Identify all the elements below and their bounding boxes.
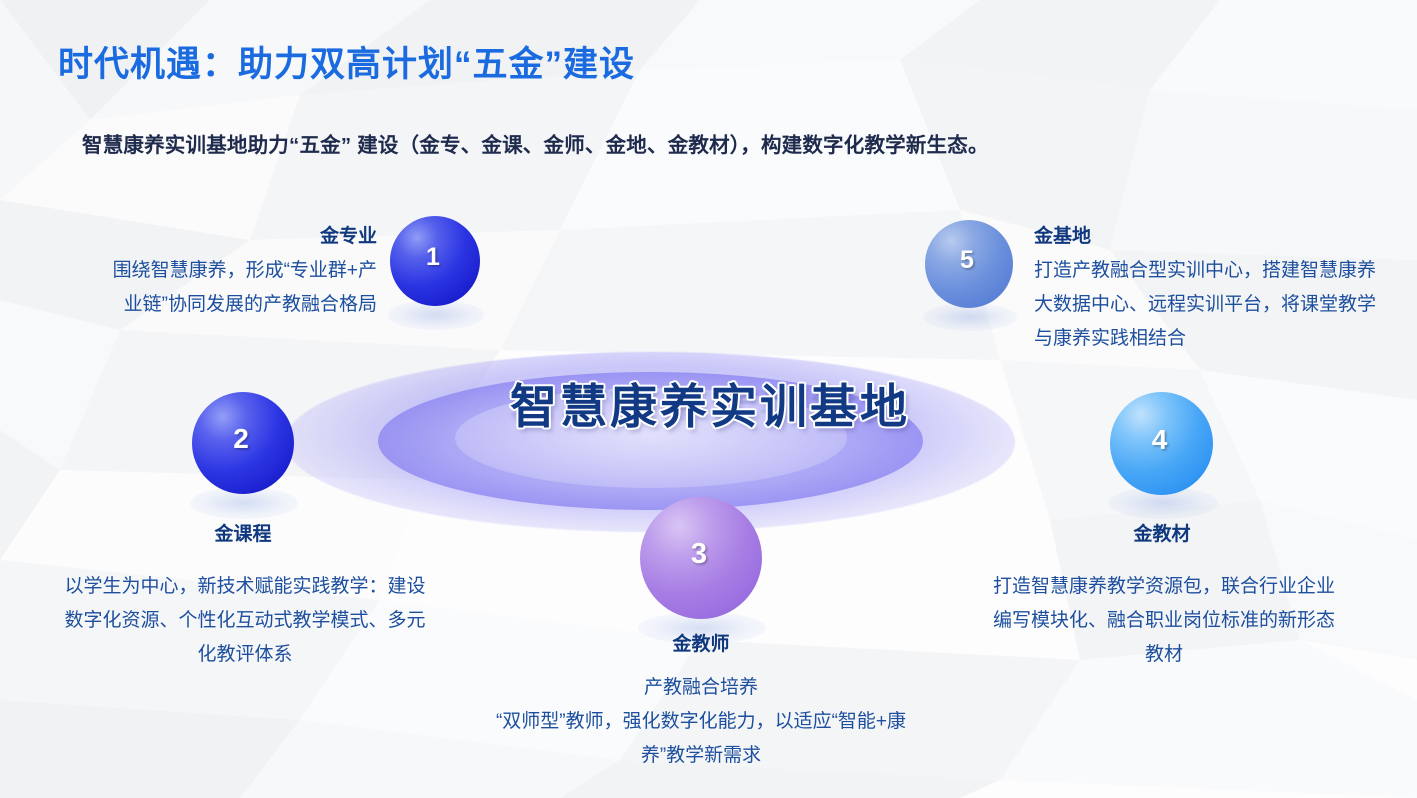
- sphere-number-4: 4: [1152, 424, 1168, 456]
- item-body-1: 围绕智慧康养，形成“专业群+产业链”协同发展的产教融合格局: [100, 254, 377, 322]
- item-label-2: 金课程: [163, 519, 323, 546]
- item-body-3: 产教融合培养 “双师型”教师，强化数字化能力，以适应“智能+康养”教学新需求: [480, 671, 922, 773]
- sphere-number-3: 3: [691, 538, 707, 571]
- sphere-number-1: 1: [426, 243, 440, 272]
- item-label-1: 金专业: [217, 221, 377, 248]
- sphere-badge-5[interactable]: 5: [925, 220, 1013, 308]
- sphere-badge-4[interactable]: 4: [1110, 392, 1213, 495]
- center-title: 智慧康养实训基地: [440, 368, 980, 437]
- item-body-4: 打造智慧康养教学资源包，联合行业企业编写模块化、融合职业岗位标准的新形态教材: [990, 570, 1338, 672]
- item-body-2: 以学生为中心，新技术赋能实践教学：建设数字化资源、个性化互动式教学模式、多元化教…: [60, 570, 430, 672]
- sphere-badge-1[interactable]: 1: [390, 216, 480, 306]
- item-label-5: 金基地: [1034, 221, 1091, 248]
- page-subtitle: 智慧康养实训基地助力“五金” 建设（金专、金课、金师、金地、金教材），构建数字化…: [82, 128, 989, 158]
- sphere-badge-2[interactable]: 2: [192, 392, 294, 494]
- item-label-3: 金教师: [621, 629, 781, 656]
- slide-canvas: 时代机遇：助力双高计划“五金”建设 智慧康养实训基地助力“五金” 建设（金专、金…: [0, 0, 1417, 798]
- item-label-4: 金教材: [1082, 519, 1242, 546]
- sphere-number-5: 5: [960, 246, 974, 275]
- page-title: 时代机遇：助力双高计划“五金”建设: [58, 36, 635, 87]
- sphere-number-2: 2: [233, 423, 249, 455]
- sphere-badge-3[interactable]: 3: [640, 497, 762, 619]
- item-body-5: 打造产教融合型实训中心，搭建智慧康养大数据中心、远程实训平台，将课堂教学与康养实…: [1034, 254, 1379, 356]
